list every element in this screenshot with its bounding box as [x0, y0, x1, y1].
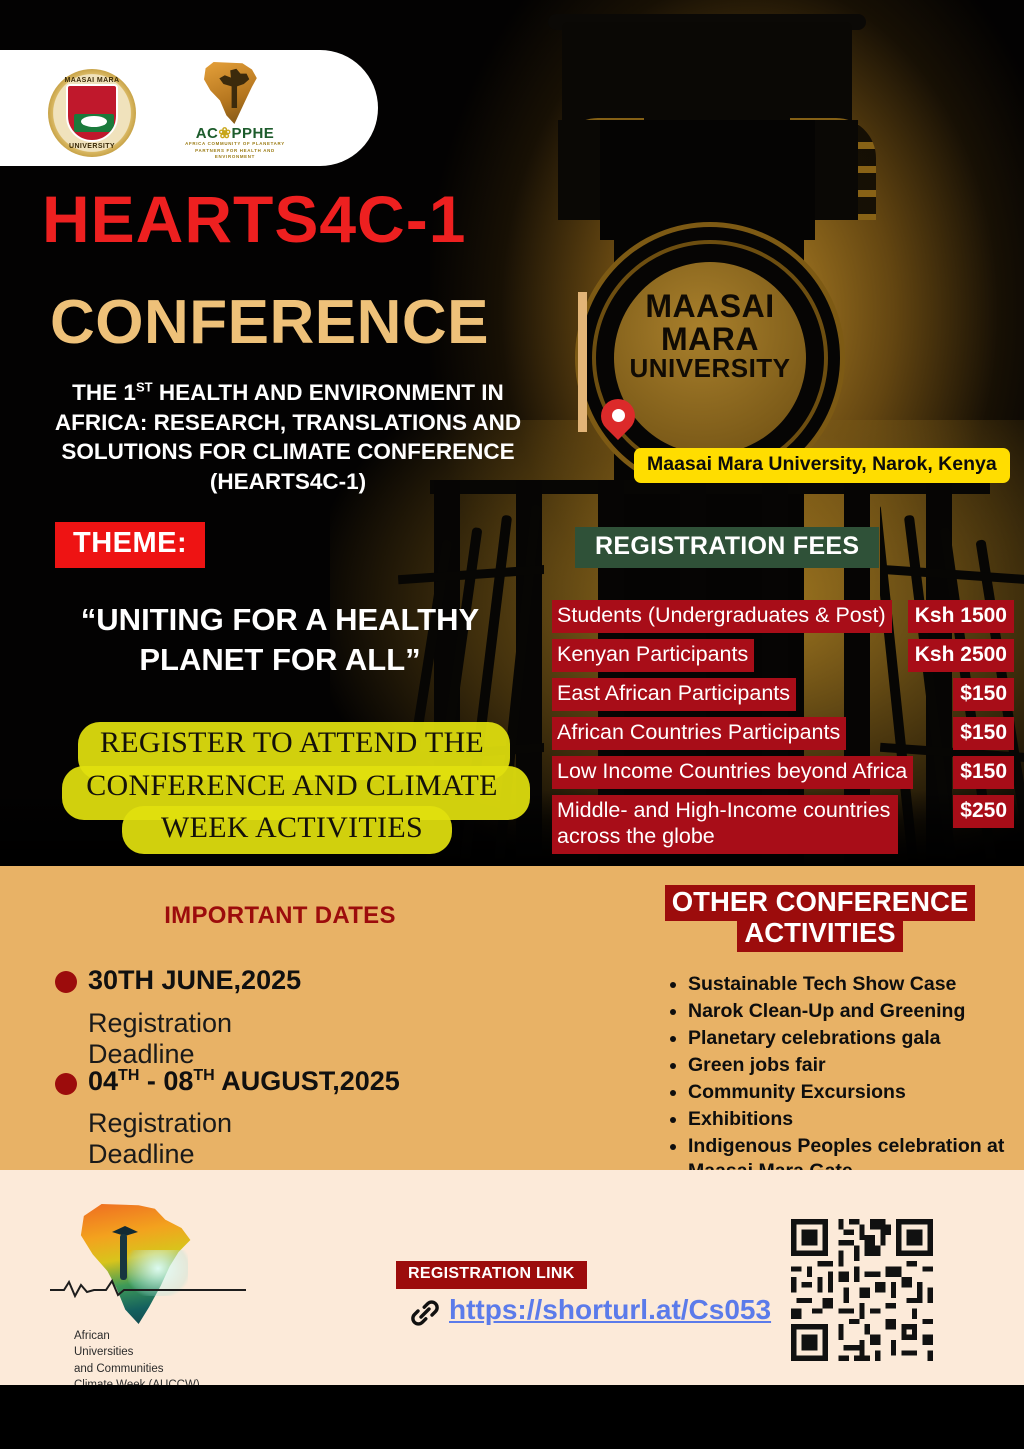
- desc-line4: (HEARTS4C-1): [210, 469, 366, 494]
- theme-line-2: PLANET FOR ALL”: [139, 642, 420, 677]
- list-item: Green jobs fair: [688, 1053, 1008, 1078]
- auccw-logo-text: African Universities and Communities Cli…: [74, 1328, 200, 1393]
- sign-line-3: UNIVERSITY: [614, 355, 806, 382]
- list-item: Sustainable Tech Show Case: [688, 972, 1008, 997]
- registration-qr-code[interactable]: [786, 1214, 938, 1366]
- link-chain-icon: [409, 1298, 441, 1328]
- seal-bottom-text: UNIVERSITY: [48, 143, 136, 150]
- fee-row: African Countries Participants $150: [552, 717, 1014, 750]
- date-value: 04TH - 08TH AUGUST,2025: [88, 1066, 400, 1097]
- fee-label: Middle- and High-Income countries across…: [552, 795, 898, 854]
- fee-label: East African Participants: [552, 678, 796, 711]
- fee-label: Low Income Countries beyond Africa: [552, 756, 913, 789]
- fee-price: $250: [953, 795, 1014, 828]
- acopphe-tagline: AFRICA COMMUNITY OF PLANETARY PARTNERS F…: [176, 141, 294, 161]
- seal-top-text: MAASAI MARA: [48, 77, 136, 84]
- other-activities-heading: OTHER CONFERENCE ACTIVITIES: [650, 887, 990, 949]
- registration-fees-heading: REGISTRATION FEES: [575, 527, 879, 568]
- fee-row: Low Income Countries beyond Africa $150: [552, 756, 1014, 789]
- conference-description: THE 1ST HEALTH AND ENVIRONMENT IN AFRICA…: [28, 378, 548, 497]
- theme-label: THEME:: [55, 522, 205, 568]
- fee-label: African Countries Participants: [552, 717, 846, 750]
- acopphe-name-part1: AC: [196, 125, 219, 142]
- acopphe-logo-icon: AC❀PPHE AFRICA COMMUNITY OF PLANETARY PA…: [176, 62, 294, 158]
- fee-price: Ksh 2500: [908, 639, 1014, 672]
- fee-row: East African Participants $150: [552, 678, 1014, 711]
- fee-label: Kenyan Participants: [552, 639, 754, 672]
- cta-line-3: WEEK ACTIVITIES: [161, 811, 423, 844]
- activities-list: Sustainable Tech Show Case Narok Clean-U…: [658, 972, 1008, 1186]
- date-sup-2: TH: [193, 1067, 214, 1084]
- cta-line-1: REGISTER TO ATTEND THE: [100, 726, 484, 759]
- list-item: Narok Clean-Up and Greening: [688, 999, 1008, 1024]
- desc-line1-pre: THE 1: [72, 380, 136, 405]
- more-information-label: More Information: [46, 1403, 209, 1426]
- fee-price: $150: [953, 756, 1014, 789]
- desc-line3: SOLUTIONS FOR CLIMATE CONFERENCE: [61, 439, 514, 464]
- email-mmarau[interactable]: hearts4climate@mmarau.ac.ke: [463, 1396, 699, 1421]
- registration-link-badge: REGISTRATION LINK: [396, 1261, 587, 1289]
- phone-number-1[interactable]: - +254 705 350166: [898, 1394, 1008, 1423]
- fee-price: $150: [953, 717, 1014, 750]
- date-note: Registration Deadline: [88, 1108, 232, 1170]
- desc-line2: AFRICA: RESEARCH, TRANSLATIONS AND: [55, 410, 521, 435]
- activities-heading-line-2: ACTIVITIES: [737, 916, 902, 952]
- sign-line-2: MARA: [614, 323, 806, 356]
- list-item: Exhibitions: [688, 1107, 1008, 1132]
- registration-fees-table: Students (Undergraduates & Post) Ksh 150…: [552, 600, 1014, 860]
- auccw-line-1: African: [74, 1328, 200, 1344]
- date-range-mid: - 08: [139, 1066, 193, 1096]
- registration-url-link[interactable]: https://shorturl.at/Cs053: [449, 1294, 771, 1326]
- fee-label: Students (Undergraduates & Post): [552, 600, 892, 633]
- footer-websites: www.mmarau.ac.ke www.acopphe.org: [247, 1396, 395, 1445]
- theme-line-1: “UNITING FOR A HEALTHY: [81, 602, 479, 637]
- date-range-end: AUGUST,2025: [215, 1066, 400, 1096]
- date-sup-1: TH: [118, 1067, 139, 1084]
- tel-whatsapp-label: Tel/WhatsApp: [767, 1393, 878, 1414]
- fee-price: Ksh 1500: [908, 600, 1014, 633]
- accent-rule: [578, 292, 587, 432]
- email-acopphe[interactable]: hearts4climate@acopphe.org: [463, 1421, 699, 1446]
- fee-row: Middle- and High-Income countries across…: [552, 795, 1014, 854]
- fee-price: $150: [953, 678, 1014, 711]
- poster-subtitle: CONFERENCE: [50, 292, 489, 354]
- acopphe-name-part2: PPHE: [231, 125, 274, 142]
- auccw-line-2: Universities: [74, 1344, 200, 1360]
- list-item: Community Excursions: [688, 1080, 1008, 1105]
- date-value: 30TH JUNE,2025: [88, 965, 301, 996]
- auccw-line-3: and Communities: [74, 1361, 200, 1377]
- acopphe-leaf-icon: ❀: [218, 125, 231, 142]
- date-range-start: 04: [88, 1066, 118, 1096]
- desc-line1-post: HEALTH AND ENVIRONMENT IN: [153, 380, 504, 405]
- website-acopphe[interactable]: www.acopphe.org: [247, 1421, 395, 1446]
- maasai-mara-seal-icon: MAASAI MARA UNIVERSITY: [48, 69, 136, 157]
- fee-row: Kenyan Participants Ksh 2500: [552, 639, 1014, 672]
- list-item: Planetary celebrations gala: [688, 1026, 1008, 1051]
- poster-title: HEARTS4C-1: [42, 186, 466, 252]
- location-badge: Maasai Mara University, Narok, Kenya: [634, 448, 1010, 483]
- footer-phone-numbers: - +254 705 350166 - +254 714 458927: [898, 1394, 1008, 1449]
- sign-line-1: MAASAI: [614, 290, 806, 323]
- website-mmarau[interactable]: www.mmarau.ac.ke: [247, 1396, 395, 1421]
- map-pin-icon: [601, 399, 635, 445]
- desc-ordinal-suffix: ST: [136, 380, 153, 395]
- date-note: Registration Deadline: [88, 1008, 232, 1070]
- cta-line-2: CONFERENCE AND CLIMATE: [86, 769, 498, 802]
- auccw-logo-icon: African Universities and Communities Cli…: [50, 1200, 270, 1375]
- phone-number-2[interactable]: - +254 714 458927: [898, 1423, 1008, 1449]
- theme-text: “UNITING FOR A HEALTHY PLANET FOR ALL”: [40, 600, 520, 681]
- fee-row: Students (Undergraduates & Post) Ksh 150…: [552, 600, 1014, 633]
- conference-poster: MAASAI MARA UNIVERSITY: [0, 0, 1024, 1449]
- footer-emails: hearts4climate@mmarau.ac.ke hearts4clima…: [463, 1396, 699, 1445]
- heartbeat-wave-icon: [50, 1278, 246, 1298]
- important-dates-heading: IMPORTANT DATES: [0, 902, 560, 930]
- register-call-to-action: REGISTER TO ATTEND THE CONFERENCE AND CL…: [72, 722, 512, 850]
